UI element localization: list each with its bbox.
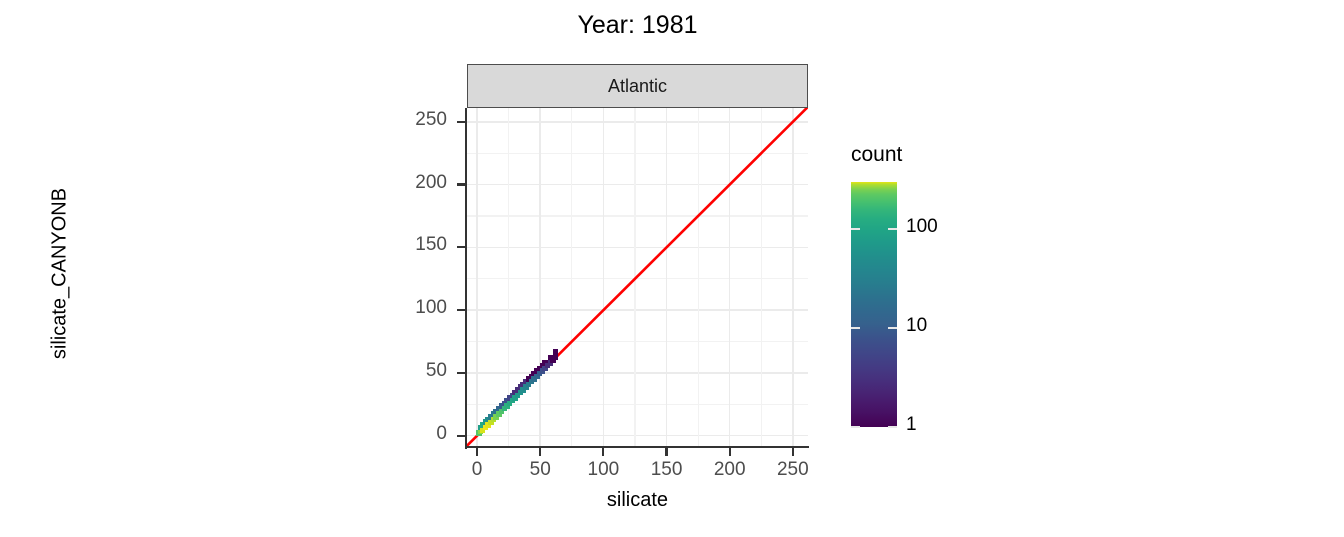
data-bin xyxy=(542,366,547,371)
data-bin xyxy=(480,428,485,433)
data-bin xyxy=(478,425,483,430)
legend-tick-mark xyxy=(888,228,897,230)
legend-tick-mark xyxy=(851,426,860,428)
gridline-x-major xyxy=(666,108,668,447)
y-tick-mark xyxy=(457,309,465,311)
gridline-x-major xyxy=(792,108,794,447)
y-tick-label: 100 xyxy=(387,297,447,319)
data-bin xyxy=(512,395,517,400)
legend-tick-mark xyxy=(851,228,860,230)
data-bin xyxy=(523,384,528,389)
x-axis-title: silicate xyxy=(467,489,808,512)
facet-strip-label: Atlantic xyxy=(608,76,667,97)
y-axis-line xyxy=(465,108,467,449)
gridline-y-minor xyxy=(467,215,808,216)
x-tick-mark xyxy=(602,448,604,456)
legend-tick-mark xyxy=(888,426,897,428)
facet-strip: Atlantic xyxy=(467,64,808,108)
gridline-y-minor xyxy=(467,153,808,154)
gridline-x-major xyxy=(729,108,731,447)
legend-tick-label: 100 xyxy=(906,216,938,238)
data-bin xyxy=(478,429,483,434)
data-bin xyxy=(526,382,531,387)
legend-title: count xyxy=(851,143,902,167)
data-bin xyxy=(483,419,488,424)
data-bin xyxy=(553,355,558,360)
x-tick-mark xyxy=(539,448,541,456)
gridline-x-major xyxy=(539,108,541,447)
gridline-y-minor xyxy=(467,278,808,279)
gridline-y-major xyxy=(467,121,808,123)
x-tick-label: 0 xyxy=(442,459,512,481)
data-bin xyxy=(488,419,493,424)
data-bin xyxy=(518,384,523,389)
gridline-y-major xyxy=(467,435,808,437)
data-bin xyxy=(550,357,555,362)
y-tick-label: 50 xyxy=(387,360,447,382)
legend-tick-label: 1 xyxy=(906,414,917,436)
gridline-x-major xyxy=(603,108,605,447)
y-tick-mark xyxy=(457,121,465,123)
legend-tick-mark xyxy=(888,327,897,329)
data-bin xyxy=(523,379,528,384)
data-bin xyxy=(548,355,553,360)
data-bin xyxy=(529,379,534,384)
data-bin xyxy=(515,387,520,392)
data-bin xyxy=(493,414,498,419)
gridline-x-minor xyxy=(634,108,635,447)
y-tick-label: 250 xyxy=(387,109,447,131)
data-bin xyxy=(499,409,504,414)
y-tick-label: 200 xyxy=(387,172,447,194)
data-bin xyxy=(510,393,515,398)
x-tick-label: 250 xyxy=(758,459,828,481)
data-bin xyxy=(531,376,536,381)
gridline-x-minor xyxy=(698,108,699,447)
data-bin xyxy=(526,376,531,381)
gridline-y-major xyxy=(467,247,808,249)
x-tick-mark xyxy=(792,448,794,456)
data-bin xyxy=(548,360,553,365)
x-tick-mark xyxy=(729,448,731,456)
gridline-y-minor xyxy=(467,341,808,342)
x-tick-label: 150 xyxy=(632,459,702,481)
data-bin xyxy=(483,425,488,430)
y-tick-label: 0 xyxy=(387,423,447,445)
legend-tick-mark xyxy=(851,327,860,329)
data-bin xyxy=(496,406,501,411)
plot-canvas: Year: 1981 Atlantic 050100150200250 0501… xyxy=(0,0,1344,537)
x-tick-mark xyxy=(476,448,478,456)
gridline-y-major xyxy=(467,309,808,311)
y-tick-mark xyxy=(457,435,465,437)
data-bin xyxy=(545,363,550,368)
page-title: Year: 1981 xyxy=(467,12,808,40)
data-bin xyxy=(515,393,520,398)
y-tick-mark xyxy=(457,183,465,185)
data-bin xyxy=(520,387,525,392)
data-bin xyxy=(491,411,496,416)
y-tick-mark xyxy=(457,246,465,248)
gridline-x-minor xyxy=(508,108,509,447)
data-bin xyxy=(510,398,515,403)
legend-colorbar xyxy=(851,182,897,427)
plot-panel xyxy=(467,108,808,447)
x-tick-label: 200 xyxy=(695,459,765,481)
x-axis-line xyxy=(465,446,809,448)
data-bin xyxy=(480,422,485,427)
data-bin xyxy=(496,411,501,416)
data-bin xyxy=(488,414,493,419)
data-bin xyxy=(529,374,534,379)
data-bin xyxy=(553,349,558,354)
y-tick-label: 150 xyxy=(387,234,447,256)
data-bin xyxy=(491,417,496,422)
data-bin xyxy=(485,422,490,427)
y-tick-mark xyxy=(457,372,465,374)
x-tick-mark xyxy=(665,448,667,456)
gridline-y-major xyxy=(467,184,808,186)
data-bin xyxy=(493,409,498,414)
data-bin xyxy=(502,406,507,411)
gridline-x-minor xyxy=(761,108,762,447)
x-tick-label: 50 xyxy=(505,459,575,481)
data-bin xyxy=(542,360,547,365)
data-bin xyxy=(520,382,525,387)
gridline-y-major xyxy=(467,372,808,374)
data-bin xyxy=(512,390,517,395)
legend-tick-label: 10 xyxy=(906,315,927,337)
gridline-x-minor xyxy=(571,108,572,447)
gridline-y-minor xyxy=(467,404,808,405)
data-bin xyxy=(485,417,490,422)
data-bin xyxy=(518,390,523,395)
y-axis-title: silicate_CANYONB xyxy=(49,104,72,444)
gridline-x-major xyxy=(476,108,478,447)
x-tick-label: 100 xyxy=(568,459,638,481)
